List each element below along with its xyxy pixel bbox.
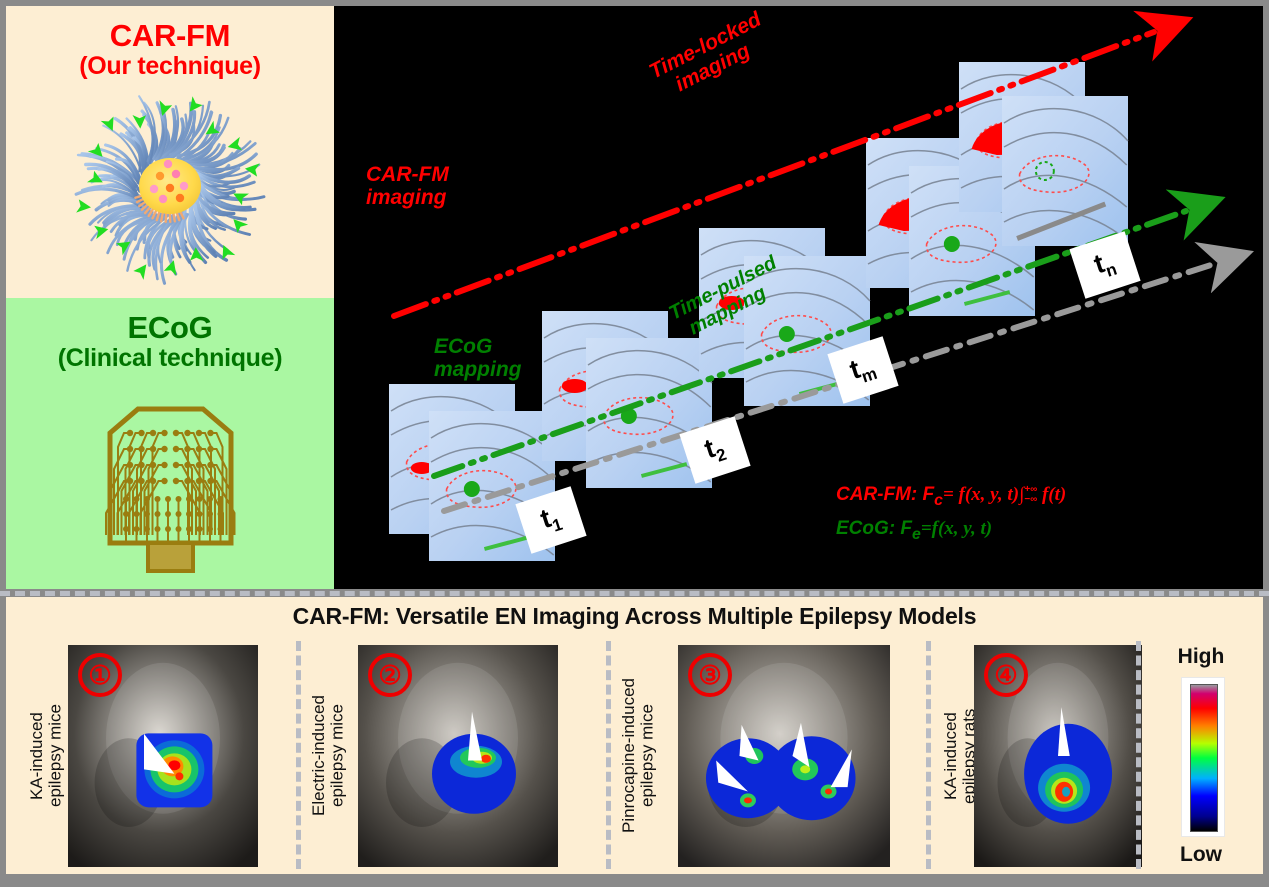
colorbar-frame xyxy=(1181,677,1225,837)
panel-divider xyxy=(1136,641,1141,869)
carfm-imaging-label: CAR-FM imaging xyxy=(366,164,449,209)
colorbar: High Low xyxy=(1147,645,1255,867)
model-badge: ② xyxy=(368,653,412,697)
model-photo[interactable]: ④ xyxy=(974,645,1142,867)
model-photo[interactable]: ③ xyxy=(678,645,890,867)
schematic-panel: CAR-FM imaging ECoG mapping Time-locked … xyxy=(334,6,1263,589)
model-photo[interactable]: ② xyxy=(358,645,558,867)
model-cell: KA-induced epilepsy mice ① xyxy=(24,645,258,867)
left-column: CAR-FM (Our technique) xyxy=(6,6,334,589)
model-label: Electric-induced epilepsy mice xyxy=(310,645,347,867)
panel-divider xyxy=(926,641,931,869)
carfm-subtitle: (Our technique) xyxy=(6,53,334,79)
panel-divider xyxy=(606,641,611,869)
colorbar-high-label: High xyxy=(1147,645,1255,669)
models-panel-title: CAR-FM: Versatile EN Imaging Across Mult… xyxy=(6,603,1263,630)
model-label: Pinrocapine-induced epilepsy mice xyxy=(620,645,657,867)
section-divider xyxy=(0,591,1269,596)
carfm-panel: CAR-FM (Our technique) xyxy=(6,6,334,298)
schematic-svg xyxy=(334,6,1263,589)
model-photo[interactable]: ① xyxy=(68,645,258,867)
nanoparticle-icon xyxy=(64,94,276,289)
ecog-mapping-label: ECoG mapping xyxy=(434,336,522,381)
model-cell: Electric-induced epilepsy mice ② xyxy=(306,645,558,867)
colorbar-low-label: Low xyxy=(1147,843,1255,867)
ecog-formula: ECoG: Fe=f(x, y, t) xyxy=(836,518,992,544)
model-badge: ① xyxy=(78,653,122,697)
carfm-title: CAR-FM xyxy=(6,6,334,53)
carfm-formula: CAR-FM: Fc= f(x, y, t)∫+∞−∞ f(t) xyxy=(836,484,1066,510)
figure-root: CAR-FM (Our technique) xyxy=(0,0,1269,887)
model-badge: ③ xyxy=(688,653,732,697)
model-label: KA-induced epilepsy mice xyxy=(28,645,65,867)
panel-divider xyxy=(296,641,301,869)
brain-slice-card xyxy=(1002,96,1128,246)
ecog-title: ECoG xyxy=(6,298,334,345)
ecog-panel: ECoG (Clinical technique) xyxy=(6,298,334,589)
ecog-electrode-array-icon xyxy=(68,403,273,578)
colorbar-gradient xyxy=(1190,684,1218,832)
model-badge: ④ xyxy=(984,653,1028,697)
model-cell: Pinrocapine-induced epilepsy mice xyxy=(616,645,890,867)
models-panel: CAR-FM: Versatile EN Imaging Across Mult… xyxy=(6,597,1263,874)
ecog-subtitle: (Clinical technique) xyxy=(6,345,334,371)
model-cell: KA-induced epilepsy rats ④ xyxy=(938,645,1142,867)
